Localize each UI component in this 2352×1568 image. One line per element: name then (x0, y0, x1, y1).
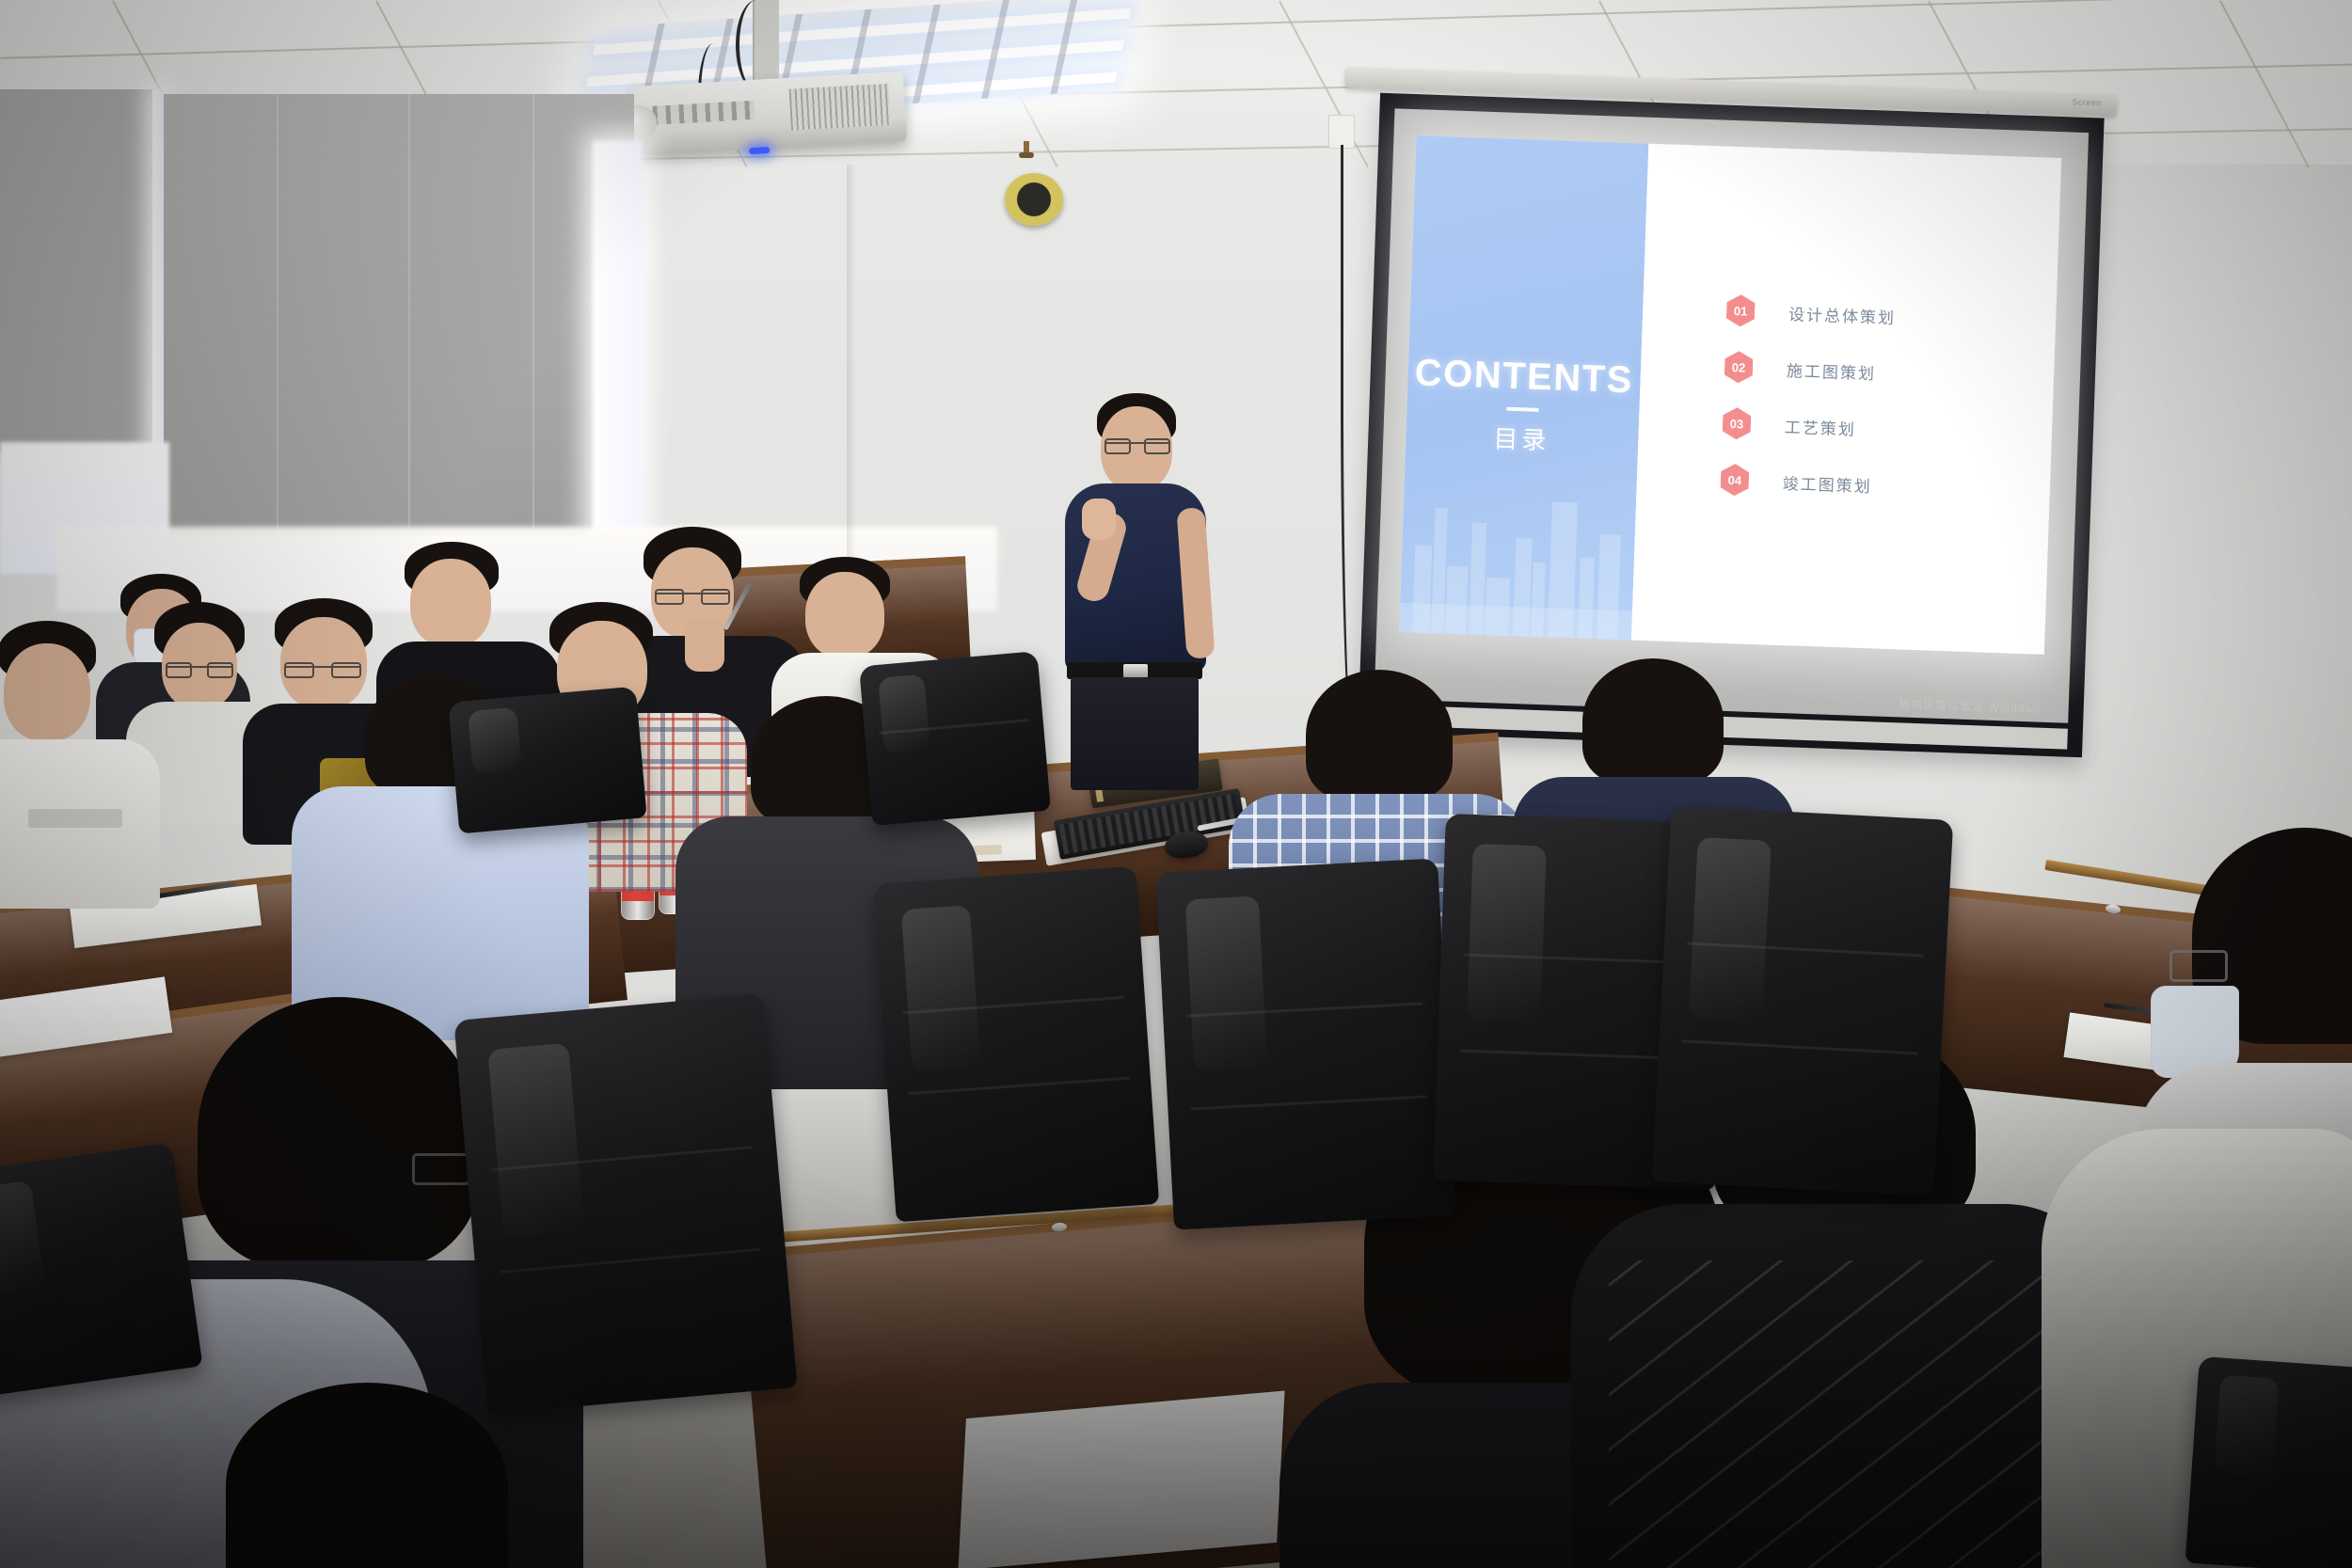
toc-number: 02 (1732, 360, 1746, 372)
blank-paper (958, 1391, 1284, 1568)
toc-label: 施工图策划 (1787, 357, 1877, 384)
slide-title-divider (1507, 406, 1539, 411)
office-chair (2185, 1356, 2352, 1568)
belt-buckle (1123, 664, 1148, 678)
hex-badge-icon: 04 (1720, 464, 1749, 497)
hex-badge-icon: 02 (1724, 351, 1753, 384)
toc-number: 04 (1727, 473, 1741, 485)
window-light-gap (152, 89, 164, 458)
glasses-icon (655, 593, 730, 594)
presenter-hand (1082, 499, 1116, 540)
toc-item: 01 设计总体策划 (1725, 289, 2056, 343)
office-chair (448, 687, 646, 834)
presenter-trousers (1071, 677, 1199, 790)
projector-vent (789, 84, 891, 131)
presenter (1061, 393, 1249, 788)
toc-item: 02 施工图策划 (1724, 345, 2054, 400)
tshirt-print (28, 809, 122, 828)
wall-corner (847, 165, 856, 578)
infinite-jacket (1571, 1204, 2117, 1568)
toc-item: 04 竣工图策划 (1720, 458, 2050, 513)
glasses-icon (412, 1153, 470, 1185)
meeting-room-photo: Screen (0, 0, 2352, 1568)
slide-title-cn: 目录 (1493, 420, 1550, 456)
projector-power-led (749, 147, 770, 154)
office-chair (453, 993, 797, 1414)
slide-title-en: CONTENTS (1414, 354, 1633, 399)
wall-socket (1328, 115, 1355, 149)
office-chair (859, 651, 1051, 826)
ceiling-sprinkler-icon (1019, 141, 1034, 162)
glasses-icon (166, 666, 233, 668)
hex-badge-icon: 03 (1722, 407, 1751, 440)
window-glare-mid (593, 141, 642, 536)
glasses-icon (1104, 442, 1170, 444)
toc-number: 03 (1730, 417, 1744, 429)
projected-slide: CONTENTS 目录 01 设计总体策划 02 (1399, 135, 2061, 654)
toc-number: 01 (1734, 305, 1748, 317)
window-blind-main (164, 94, 634, 536)
glasses-icon (284, 666, 361, 668)
projector-ports (652, 101, 755, 125)
toc-label: 设计总体策划 (1788, 301, 1897, 328)
office-chair (1155, 858, 1455, 1229)
projector-cable (736, 0, 777, 90)
toc-label: 工艺策划 (1785, 413, 1857, 439)
office-chair (1652, 805, 1954, 1196)
jacket-text-pattern (1609, 1260, 2051, 1568)
hex-badge-icon: 01 (1726, 294, 1756, 327)
window-blind-left (0, 89, 152, 466)
glasses-icon (2169, 950, 2228, 982)
windows-activation-watermark: 转到设置以激活 Windows (1899, 695, 2042, 716)
skyline-graphic (1399, 463, 1637, 640)
office-chair (873, 866, 1159, 1223)
toc-item: 03 工艺策划 (1722, 402, 2052, 456)
screen-brand-label: Screen (2072, 97, 2102, 107)
wall-speaker-icon (1005, 173, 1063, 226)
toc-label: 竣工图策划 (1782, 469, 1872, 496)
attendee-white-tee-left (0, 621, 141, 865)
slide-left-panel: CONTENTS 目录 (1399, 135, 1648, 640)
office-chair (0, 1142, 203, 1397)
slide-toc-panel: 01 设计总体策划 02 施工图策划 03 工艺策 (1631, 144, 2061, 655)
screen-surface: CONTENTS 目录 01 设计总体策划 02 (1375, 108, 2089, 722)
